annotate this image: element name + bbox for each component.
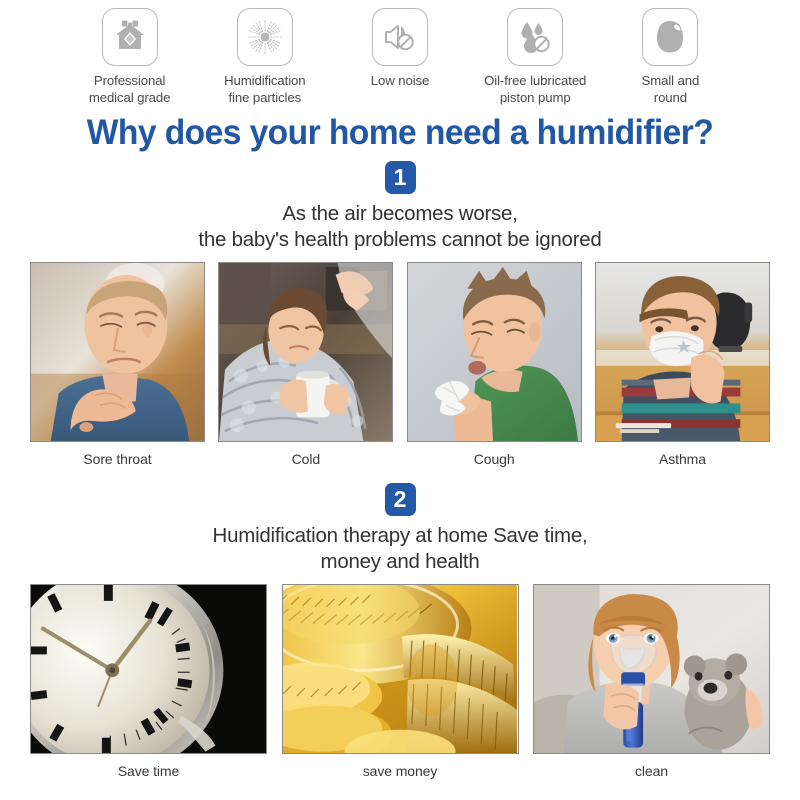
girl-cold-blanket-photo [218, 262, 393, 442]
photo-caption: Cold [292, 451, 320, 467]
photo-caption: Asthma [659, 451, 706, 467]
boy-asthma-mask-photo [595, 262, 770, 442]
feature-low-noise: Low noise [332, 8, 467, 90]
speaker-mute-icon [372, 8, 428, 66]
photo-cell-sore-throat: Sore throat [30, 262, 205, 467]
feature-label: Small andround [642, 73, 700, 106]
photo-caption: Save time [118, 763, 179, 779]
feature-strip: Professionalmedical grade [0, 0, 800, 112]
clock-closeup-photo [30, 584, 267, 754]
girl-nebulizer-photo [533, 584, 770, 754]
feature-label: Low noise [371, 73, 429, 90]
particle-burst-icon [237, 8, 293, 66]
rounded-device-icon [642, 8, 698, 66]
photo-cell-cold: Cold [218, 262, 393, 467]
boy-coughing-photo [407, 262, 582, 442]
photo-cell-save-time: Save time [30, 584, 267, 779]
photo-caption: Cough [474, 451, 515, 467]
oil-drop-free-icon [507, 8, 563, 66]
feature-small-and-round: Small andround [603, 8, 738, 106]
step-badge-1: 1 [385, 161, 416, 194]
section-1-title: As the air becomes worse,the baby's heal… [0, 201, 800, 252]
page-title: Why does your home need a humidifier? [16, 114, 784, 152]
photo-cell-clean: clean [533, 584, 770, 779]
photo-cell-asthma: Asthma [595, 262, 770, 467]
photo-caption: Sore throat [83, 451, 151, 467]
step-badge-2: 2 [385, 483, 416, 516]
feature-label: Humidificationfine particles [224, 73, 305, 106]
feature-oil-free-lubricated-piston-pump: Oil-free lubricatedpiston pump [468, 8, 603, 106]
benefit-photo-grid: Save time [0, 584, 800, 779]
feature-label: Professionalmedical grade [89, 73, 171, 106]
section-2-title: Humidification therapy at home Save time… [0, 523, 800, 574]
symptom-photo-grid: Sore throat [0, 262, 800, 467]
feature-humidification-fine-particles: Humidificationfine particles [197, 8, 332, 106]
photo-cell-cough: Cough [407, 262, 582, 467]
feature-professional-medical-grade: Professionalmedical grade [62, 8, 197, 106]
man-sore-throat-photo [30, 262, 205, 442]
photo-caption: clean [635, 763, 668, 779]
feature-label: Oil-free lubricatedpiston pump [484, 73, 586, 106]
medical-house-icon [102, 8, 158, 66]
gold-coins-photo [282, 584, 519, 754]
photo-caption: save money [363, 763, 437, 779]
photo-cell-save-money: save money [282, 584, 519, 779]
